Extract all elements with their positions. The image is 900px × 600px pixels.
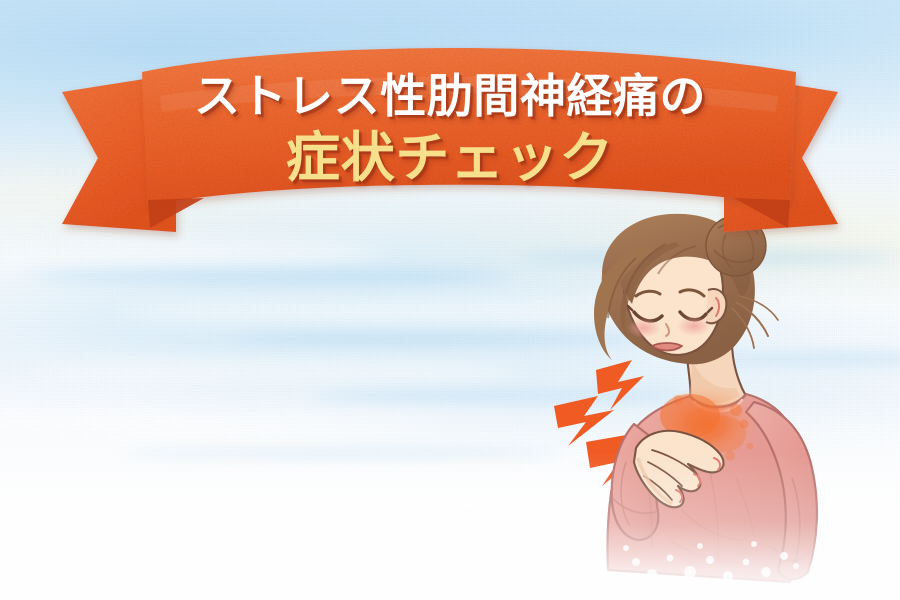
- title-banner: ストレス性肋間神経痛の 症状チェック: [0, 0, 900, 250]
- banner-body: [142, 48, 796, 205]
- character-illustration: [540, 210, 900, 600]
- illustration-canvas: ストレス性肋間神経痛の 症状チェック: [0, 0, 900, 600]
